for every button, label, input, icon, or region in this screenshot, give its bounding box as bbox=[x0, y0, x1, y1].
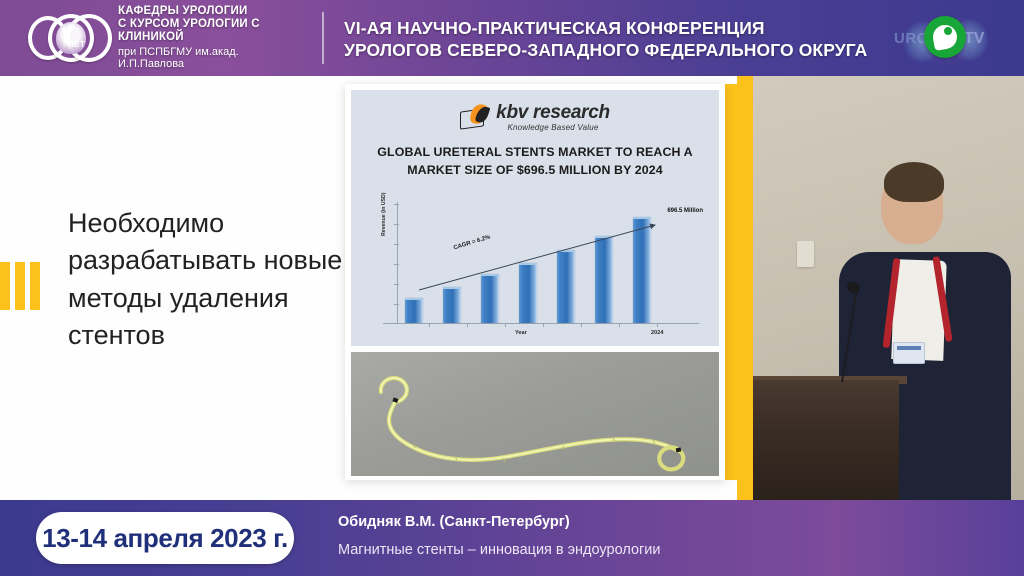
speaker-name-label: Обидняк В.М. (Санкт-Петербург) bbox=[338, 514, 570, 530]
kbv-research-logo: kbv research Knowledge Based Value bbox=[351, 96, 719, 138]
green-circle-logo-icon bbox=[924, 16, 966, 58]
peak-value-annotation: 696.5 Million bbox=[667, 208, 703, 214]
bar-chart-plot: Revenue (in USD) Year 2024 bbox=[383, 202, 705, 336]
department-logo-text: КАФЕДРЫ УРОЛОГИИ С КУРСОМ УРОЛОГИИ С КЛИ… bbox=[118, 5, 304, 70]
conference-title: VI-АЯ НАУЧНО-ПРАКТИЧЕСКАЯ КОНФЕРЕНЦИЯ УР… bbox=[344, 17, 884, 62]
conference-footer: 13-14 апреля 2023 г. Обидняк В.М. (Санкт… bbox=[0, 500, 1024, 576]
university-emblem-icon bbox=[56, 22, 86, 54]
kbv-wordmark: kbv research Knowledge Based Value bbox=[496, 103, 610, 132]
centennial-100-icon: ЛЕТ bbox=[28, 10, 110, 66]
presentation-slide-card: kbv research Knowledge Based Value GLOBA… bbox=[345, 84, 725, 480]
department-logo: ЛЕТ КАФЕДРЫ УРОЛОГИИ С КУРСОМ УРОЛОГИИ С… bbox=[28, 8, 304, 68]
department-line-3: при ПСПБГМУ им.акад. И.П.Павлова bbox=[118, 46, 304, 71]
bar-item bbox=[443, 287, 461, 323]
ureteral-stent-photo bbox=[351, 352, 719, 476]
chart-title-visible-line-2: MARKET SIZE OF $696.5 MILLION BY 2024 bbox=[365, 162, 705, 180]
conference-date-label: 13-14 апреля 2023 г. bbox=[42, 523, 288, 554]
conference-title-line-2: УРОЛОГОВ СЕВЕРО-ЗАПАДНОГО ФЕДЕРАЛЬНОГО О… bbox=[344, 39, 884, 61]
x-axis-label: Year bbox=[515, 330, 527, 336]
yellow-vertical-strip bbox=[737, 76, 753, 500]
broadcaster-logo: UROTV TV bbox=[882, 0, 1018, 76]
header-divider bbox=[322, 12, 324, 64]
x-axis-tick-2024: 2024 bbox=[651, 330, 663, 336]
bar-item bbox=[633, 217, 651, 323]
bar-item bbox=[557, 250, 575, 323]
y-axis bbox=[397, 202, 398, 324]
bar-item bbox=[595, 236, 613, 323]
kbv-tagline-label: Knowledge Based Value bbox=[496, 124, 610, 132]
y-axis-label: Revenue (in USD) bbox=[381, 192, 387, 236]
broadcaster-tv-label: TV bbox=[964, 30, 984, 48]
conference-header: ЛЕТ КАФЕДРЫ УРОЛОГИИ С КУРСОМ УРОЛОГИИ С… bbox=[0, 0, 1024, 76]
conference-title-line-1: VI-АЯ НАУЧНО-ПРАКТИЧЕСКАЯ КОНФЕРЕНЦИЯ bbox=[344, 17, 884, 39]
market-chart-panel: kbv research Knowledge Based Value GLOBA… bbox=[351, 90, 719, 346]
department-line-2: С КУРСОМ УРОЛОГИИ С КЛИНИКОЙ bbox=[118, 18, 304, 44]
speaker-video-panel[interactable] bbox=[753, 76, 1024, 500]
centennial-years-label: ЛЕТ bbox=[68, 40, 85, 49]
x-axis bbox=[383, 323, 699, 324]
talk-title-label: Магнитные стенты – инновация в эндоуроло… bbox=[338, 542, 661, 558]
chart-title: GLOBAL URETERAL STENTS MARKET TO REACH A… bbox=[351, 144, 719, 179]
conference-date-badge: 13-14 апреля 2023 г. bbox=[36, 512, 294, 564]
book-flame-icon bbox=[460, 104, 490, 130]
kbv-name-label: kbv research bbox=[496, 103, 610, 122]
slide-lead-text: Необходимо разрабатывать новые методы уд… bbox=[68, 205, 358, 354]
speaker-hair bbox=[884, 162, 944, 202]
department-line-1: КАФЕДРЫ УРОЛОГИИ bbox=[118, 5, 304, 18]
podium bbox=[753, 380, 899, 500]
bar-series bbox=[405, 213, 697, 323]
wall-outlet-icon bbox=[797, 241, 814, 267]
speaker-name-badge bbox=[893, 342, 925, 364]
bar-item bbox=[405, 298, 423, 323]
bar-item bbox=[481, 274, 499, 324]
bar-item bbox=[519, 263, 537, 324]
double-j-stent-illustration bbox=[351, 352, 719, 476]
yellow-accent-bars bbox=[0, 262, 40, 310]
chart-title-visible-line-1: GLOBAL URETERAL STENTS MARKET TO REACH A bbox=[365, 144, 705, 162]
